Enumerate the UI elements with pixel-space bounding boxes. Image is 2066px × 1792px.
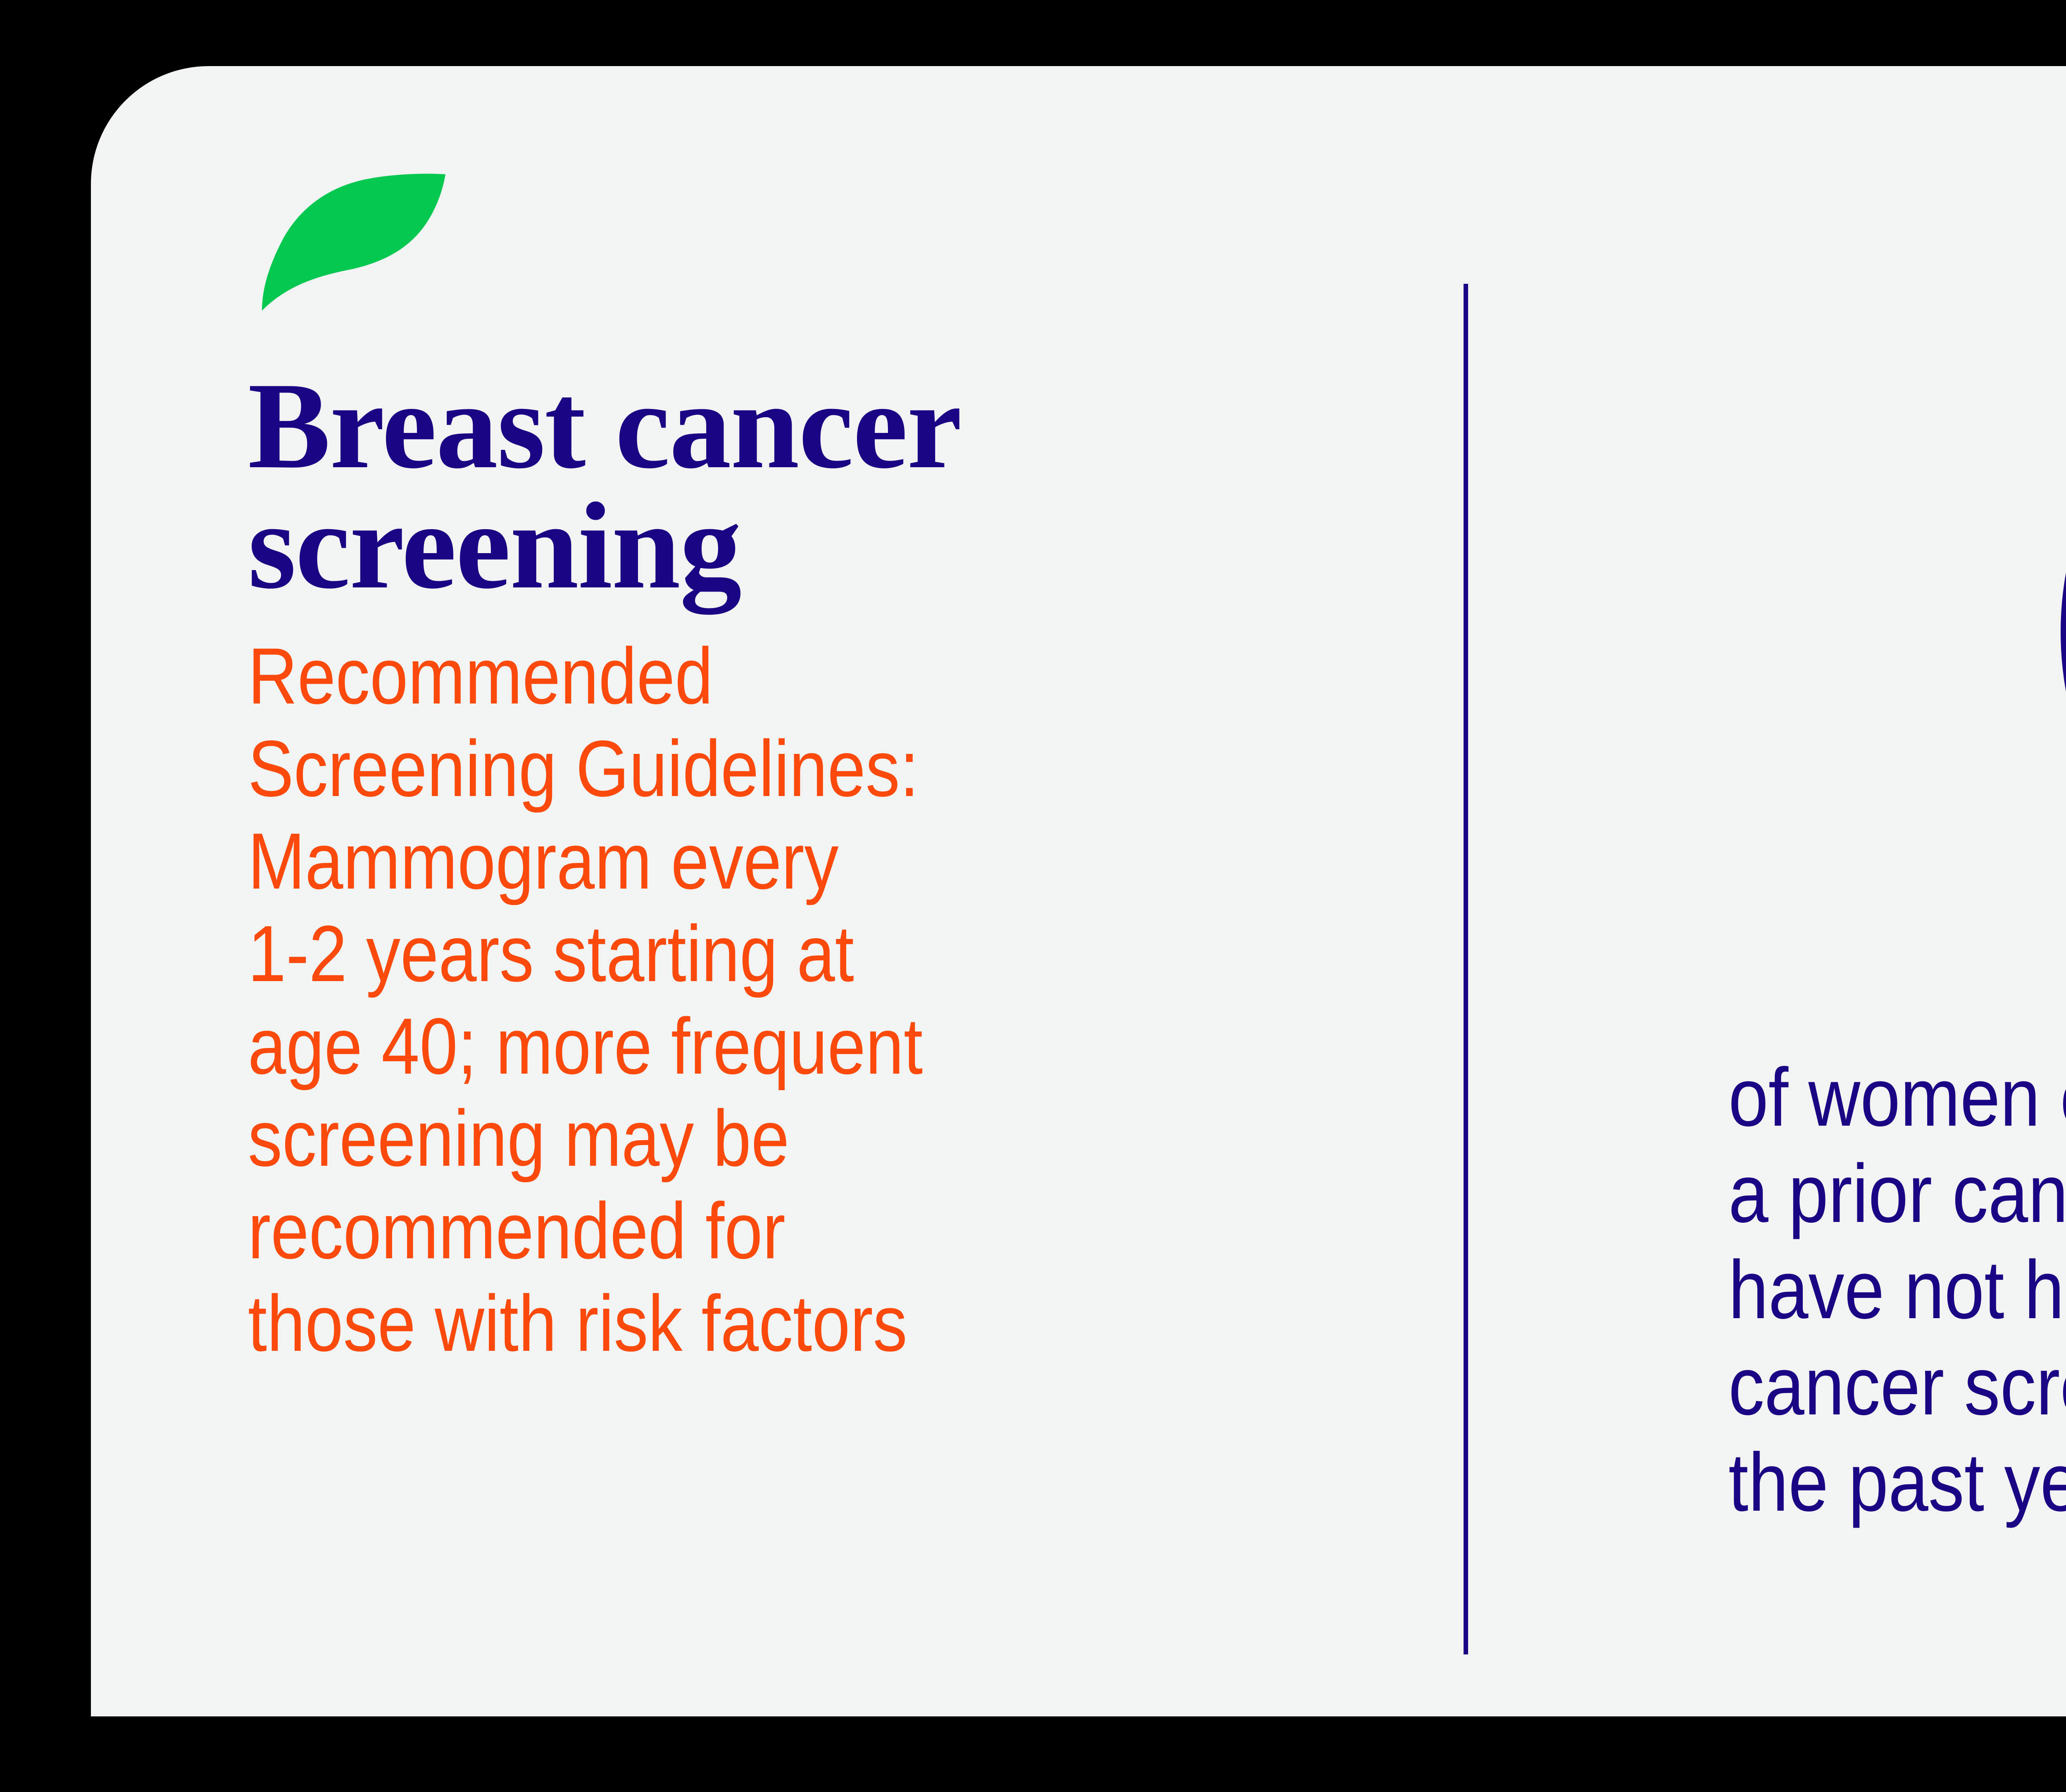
donut-center-value: 42% bbox=[2059, 297, 2066, 967]
screening-guidelines-text: Recommended Screening Guidelines: Mammog… bbox=[248, 630, 1225, 1370]
screenshot-stage: Breast cancer screening Recommended Scre… bbox=[0, 0, 2066, 1792]
statistic-caption: of women over 40 with a prior cancer dia… bbox=[1728, 1049, 2066, 1531]
infographic-card: Breast cancer screening Recommended Scre… bbox=[91, 66, 2066, 1716]
donut-chart: 42% bbox=[2059, 297, 2066, 967]
right-panel: 42% of women over 40 with a prior cancer… bbox=[1728, 297, 2066, 1531]
page-title: Breast cancer screening bbox=[248, 366, 1384, 606]
vertical-divider bbox=[1464, 284, 1468, 1654]
left-panel: Breast cancer screening Recommended Scre… bbox=[248, 165, 1384, 1370]
leaf-icon bbox=[248, 165, 455, 322]
